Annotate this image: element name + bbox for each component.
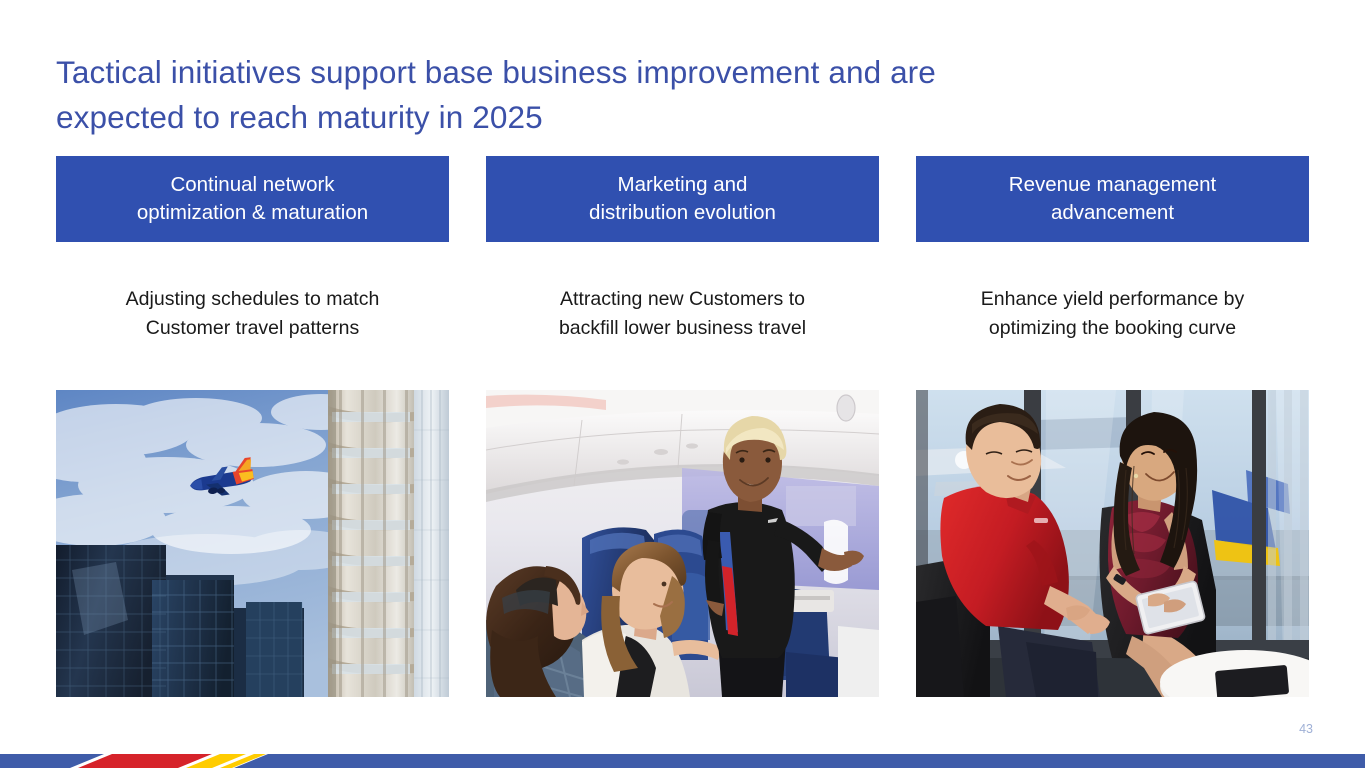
slide-page-number: 43 [1299, 722, 1313, 736]
column-caption: Enhance yield performance by optimizing … [916, 285, 1309, 343]
column-marketing-distribution-evolution: Marketing and distribution evolution Att… [486, 0, 879, 768]
southwest-brand-stripe [0, 746, 1365, 768]
photo-airplane-over-city [56, 390, 449, 697]
column-header-box: Marketing and distribution evolution [486, 156, 879, 242]
column-revenue-management-advancement: Revenue management advancement Enhance y… [916, 0, 1309, 768]
column-header-box: Continual network optimization & maturat… [56, 156, 449, 242]
photo-travelers-with-tablet-lounge [916, 390, 1309, 697]
photo-flight-attendant-cabin [486, 390, 879, 697]
column-header-box: Revenue management advancement [916, 156, 1309, 242]
column-continual-network-optimization: Continual network optimization & maturat… [56, 0, 449, 768]
column-caption: Attracting new Customers to backfill low… [486, 285, 879, 343]
column-caption: Adjusting schedules to match Customer tr… [56, 285, 449, 343]
slide-canvas: Tactical initiatives support base busine… [0, 0, 1365, 768]
